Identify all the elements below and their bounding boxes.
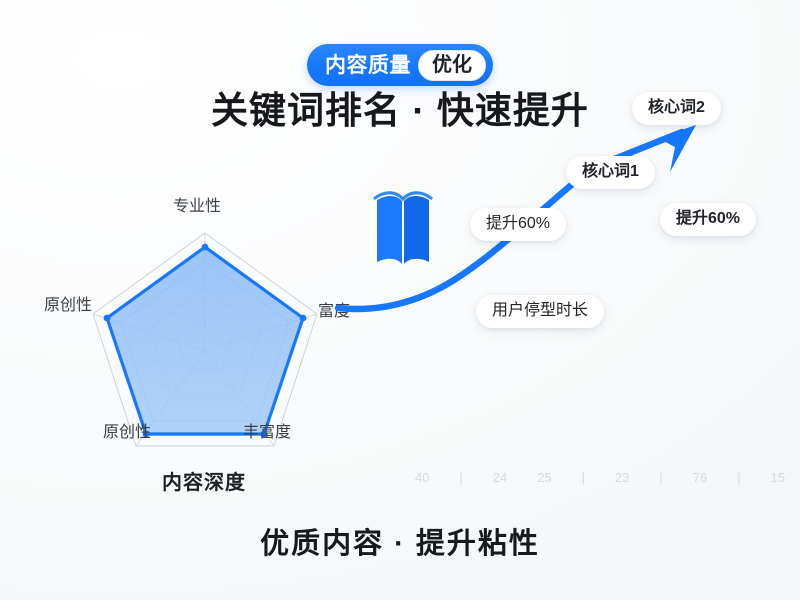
radar-label-bottom-left: 原创性	[103, 425, 151, 441]
tick-label: 76	[693, 471, 707, 484]
bottom-tagline: 优质内容 · 提升粘性	[0, 520, 800, 562]
tick-label: 15	[770, 471, 784, 484]
tick-label: 23	[615, 471, 629, 484]
radar-label-top: 专业性	[173, 199, 221, 215]
tick-mark: |	[737, 471, 740, 484]
tick-label: 24	[493, 471, 507, 484]
tick-mark: |	[582, 471, 585, 484]
tick-mark: |	[659, 471, 662, 484]
callout-uplift-right[interactable]: 提升60%	[660, 203, 756, 236]
radar-label-bottom-right: 丰富度	[243, 425, 291, 441]
radar-label-left: 原创性	[44, 298, 92, 314]
callout-core-keyword-1[interactable]: 核心词1	[566, 156, 655, 189]
faint-axis-tick-strip: 40 | 24 25 | 23 | 76 | 15	[415, 466, 785, 488]
radar-series-area	[107, 247, 303, 434]
open-book-icon	[373, 188, 433, 274]
callout-dwell-time[interactable]: 用户停型时长	[476, 295, 604, 328]
tick-mark: |	[459, 471, 462, 484]
badge-main-label: 内容质量	[325, 55, 411, 76]
callout-uplift-left[interactable]: 提升60%	[470, 208, 566, 241]
slide-canvas: 内容质量 优化 关键词排名 · 快速提升	[0, 0, 800, 600]
content-depth-caption: 内容深度	[162, 466, 246, 495]
badge-chip-label: 优化	[418, 50, 486, 81]
callout-core-keyword-2[interactable]: 核心词2	[632, 92, 721, 125]
tick-label: 25	[537, 471, 551, 484]
content-quality-badge[interactable]: 内容质量 优化	[307, 44, 493, 86]
tick-label: 40	[415, 471, 429, 484]
